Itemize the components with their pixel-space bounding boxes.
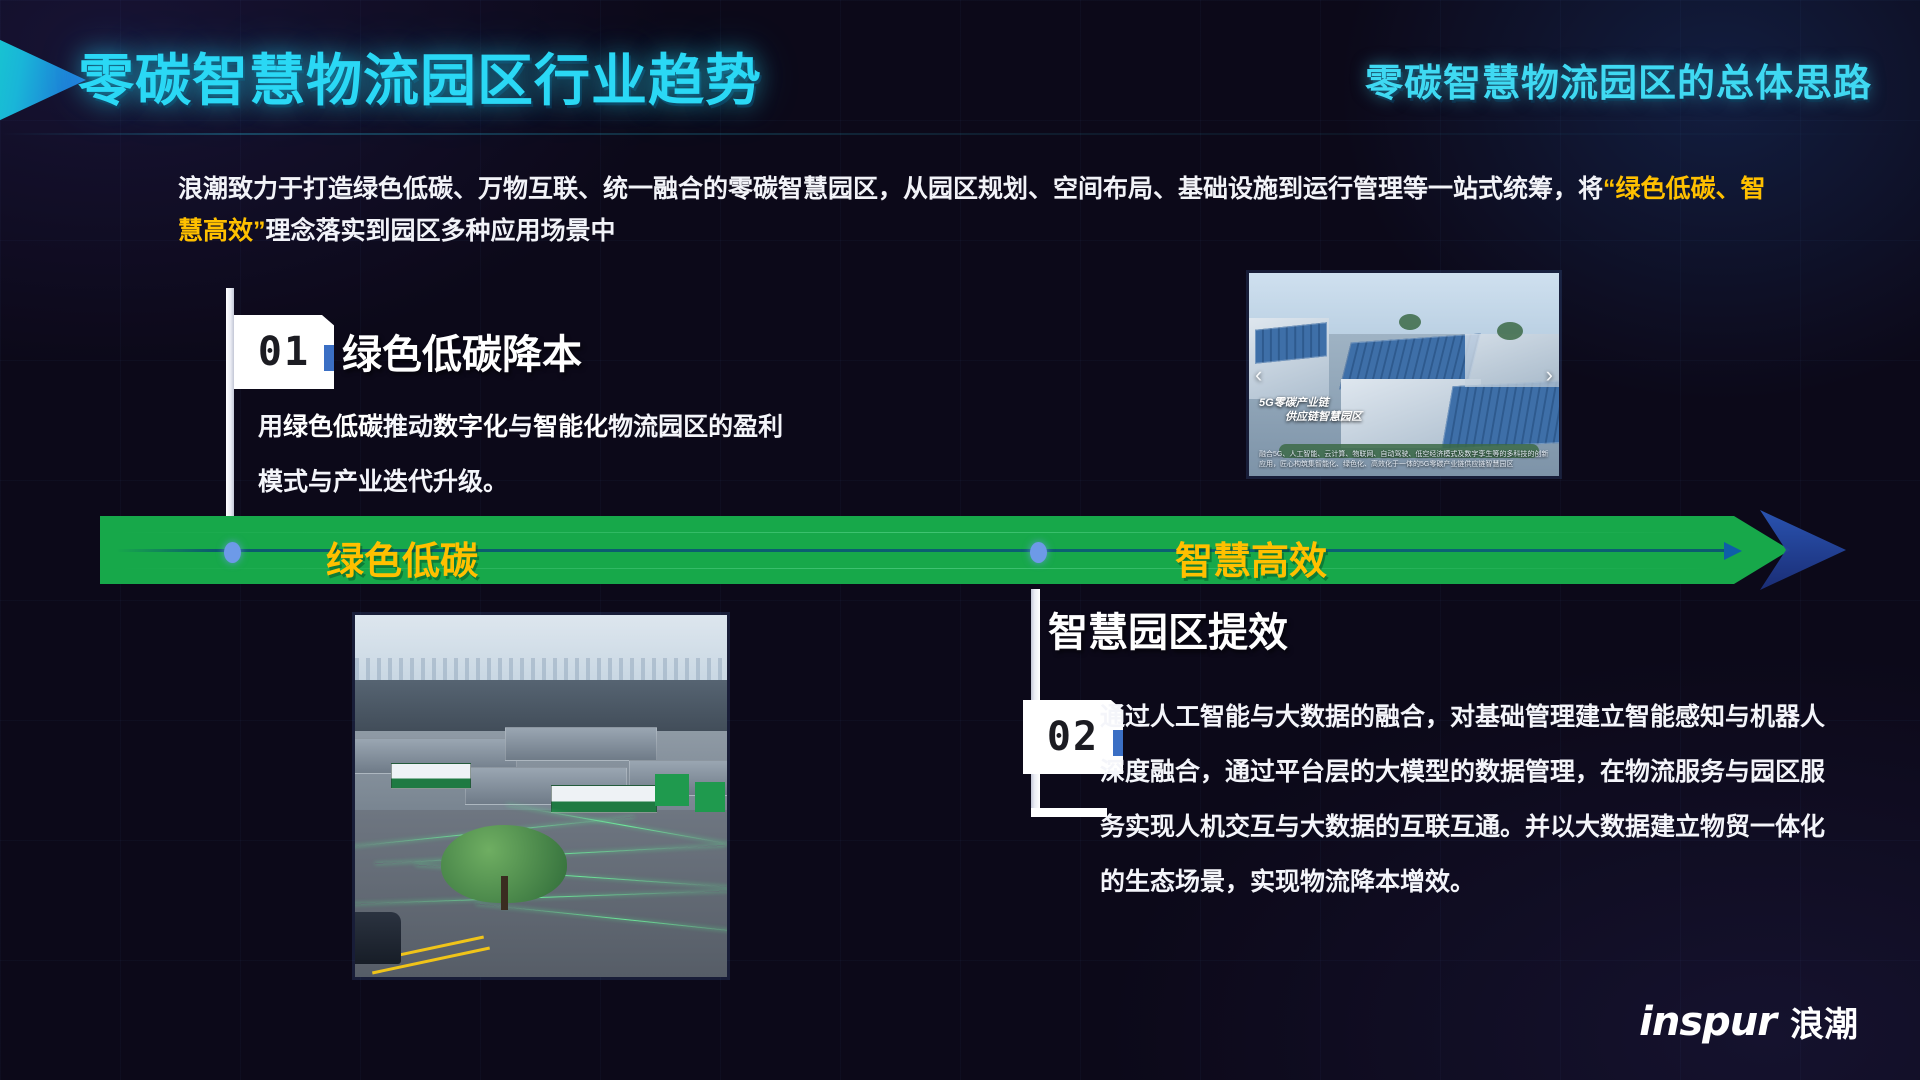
inspur-logo: inspur 浪潮 [1639, 997, 1858, 1046]
header-chevron-icon [0, 24, 86, 136]
intro-text-part2: 理念落实到园区多种应用场景中 [266, 217, 616, 245]
section-heading-01: 绿色低碳降本 [342, 322, 582, 380]
section-body-02: 通过人工智能与大数据的融合，对基础管理建立智能感知与机器人深度融合，通过平台层的… [1100, 690, 1830, 910]
photo-overlay-title-line1: 5G零碳产业链 [1259, 397, 1329, 409]
photo-solar-panel-3 [1441, 379, 1559, 448]
band-label-left: 绿色低碳 [326, 530, 478, 585]
photo-tree-2 [1497, 322, 1523, 340]
intro-text-part1: 浪潮致力于打造绿色低碳、万物互联、统一融合的零碳智慧园区，从园区规划、空间布局、… [178, 175, 1603, 203]
band-label-right: 智慧高效 [1175, 530, 1327, 585]
band-marker-dot-02 [1030, 542, 1047, 563]
s1-b2: 数字化 [433, 413, 508, 441]
s1-b1: 绿色低碳 [283, 413, 383, 441]
logo-wordmark-en: inspur [1639, 999, 1776, 1045]
s1-t2: 推动 [383, 413, 433, 441]
lp-foreground-truck [355, 912, 401, 964]
carousel-prev-icon[interactable]: ‹ [1255, 362, 1262, 388]
s1-t5: 模式与产业迭代升级。 [258, 468, 508, 496]
photo-overlay-title: 5G零碳产业链 供应链智慧园区 [1259, 396, 1362, 424]
photo-tree-1 [1399, 314, 1421, 330]
s1-t4: 物流园区的盈利 [608, 413, 783, 441]
s1-t3: 与 [508, 413, 533, 441]
page-title: 零碳智慧物流园区行业趋势 [78, 36, 762, 117]
s1-t1: 用 [258, 413, 283, 441]
section-heading-02: 智慧园区提效 [1048, 600, 1288, 658]
band-marker-dot-01 [224, 542, 241, 563]
intro-paragraph: 浪潮致力于打造绿色低碳、万物互联、统一融合的零碳智慧园区，从园区规划、空间布局、… [178, 168, 1778, 252]
section-badge-tab-01 [324, 345, 334, 371]
lp-truck-2 [551, 785, 657, 813]
photo-overlay-title-line2: 供应链智慧园区 [1285, 410, 1362, 424]
header-divider [0, 133, 1920, 135]
lp-container-1 [655, 774, 689, 806]
lp-container-2 [695, 782, 725, 812]
lp-canopy-2 [505, 727, 657, 761]
flag-pole-foot-02 [1031, 808, 1107, 817]
section-badge-01: 01 [234, 315, 334, 389]
photo-overlay-description: 融合5G、人工智能、云计算、物联网、自动驾驶、低空经济模式及数字孪生等的多科技的… [1259, 450, 1549, 470]
photo-solar-panel-1 [1255, 322, 1327, 364]
image-5g-zero-carbon-park: ‹ › 5G零碳产业链 供应链智慧园区 融合5G、人工智能、云计算、物联网、自动… [1249, 273, 1559, 476]
progress-arrow-band: 绿色低碳 智慧高效 [100, 516, 1790, 584]
page-subtitle: 零碳智慧物流园区的总体思路 [1365, 52, 1872, 107]
s1-b3: 智能化 [533, 413, 608, 441]
image-smart-logistics-park [355, 615, 727, 977]
carousel-next-icon[interactable]: › [1546, 362, 1553, 388]
lp-truck-1 [391, 763, 471, 789]
section-body-01: 用绿色低碳推动数字化与智能化物流园区的盈利 模式与产业迭代升级。 [258, 400, 958, 510]
lp-tree-trunk [501, 876, 508, 910]
logo-wordmark-cn: 浪潮 [1790, 997, 1858, 1046]
